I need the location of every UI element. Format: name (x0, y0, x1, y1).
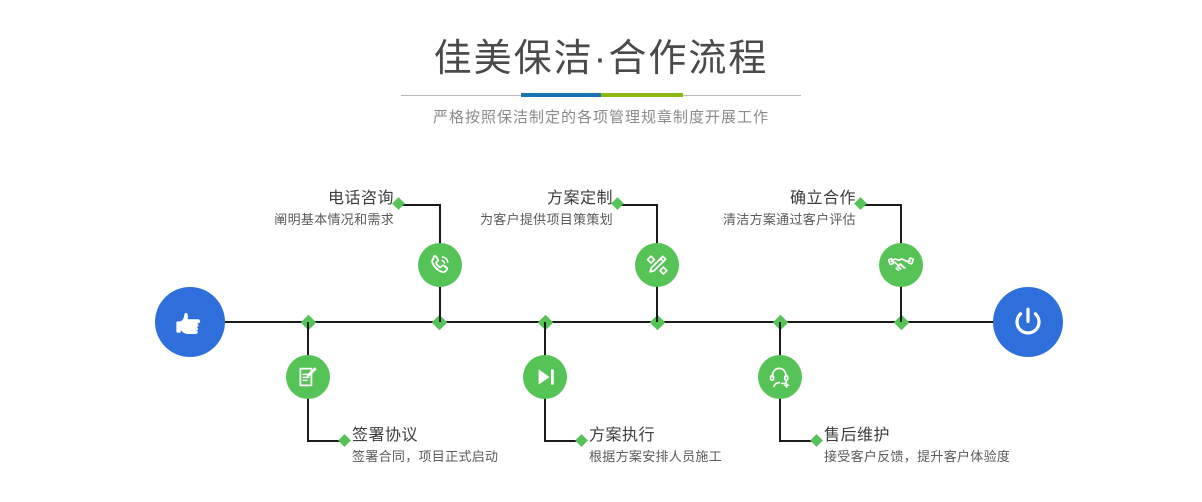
divider-segment-blue (521, 93, 601, 97)
step-title-3: 方案定制 (428, 188, 613, 210)
pointing-hand-icon (172, 304, 208, 340)
node-step-6 (758, 355, 802, 399)
step-label-3: 方案定制 为客户提供项目策策划 (428, 188, 613, 230)
page-title: 佳美保洁·合作流程 (0, 36, 1202, 82)
step-desc-2: 签署合同，项目正式启动 (352, 447, 592, 467)
connector-horizontal-step-3 (619, 204, 657, 206)
step-desc-6: 接受客户反馈，提升客户体验度 (824, 447, 1104, 467)
pencil-design-icon (644, 252, 670, 278)
node-step-2 (286, 355, 330, 399)
divider-segment-green (601, 93, 683, 97)
step-label-2: 签署协议 签署合同，项目正式启动 (352, 425, 592, 467)
step-desc-4: 根据方案安排人员施工 (589, 447, 829, 467)
power-icon (1009, 303, 1047, 341)
label-marker-step-2 (338, 434, 351, 447)
timeline-axis (155, 321, 1045, 323)
handshake-icon (888, 252, 914, 278)
step-label-4: 方案执行 根据方案安排人员施工 (589, 425, 829, 467)
play-execute-icon (532, 364, 558, 390)
step-desc-3: 为客户提供项目策策划 (428, 210, 613, 230)
process-flow-infographic: 佳美保洁·合作流程 严格按照保洁制定的各项管理规章制度开展工作 (0, 0, 1202, 502)
connector-horizontal-step-5 (862, 204, 901, 206)
node-step-1 (418, 243, 462, 287)
step-label-5: 确立合作 清洁方案通过客户评估 (672, 188, 856, 230)
label-marker-step-3 (611, 197, 624, 210)
node-step-5 (879, 243, 923, 287)
customer-service-icon (767, 364, 793, 390)
step-title-4: 方案执行 (589, 425, 829, 447)
step-desc-1: 阐明基本情况和需求 (209, 210, 394, 230)
node-step-3 (635, 243, 679, 287)
step-label-1: 电话咨询 阐明基本情况和需求 (209, 188, 394, 230)
label-marker-step-1 (392, 197, 405, 210)
page-subtitle: 严格按照保洁制定的各项管理规章制度开展工作 (0, 106, 1202, 130)
phone-call-icon (427, 252, 453, 278)
timeline-end-node (993, 287, 1063, 357)
label-marker-step-5 (854, 197, 867, 210)
step-title-2: 签署协议 (352, 425, 592, 447)
document-edit-icon (295, 364, 321, 390)
step-title-6: 售后维护 (824, 425, 1104, 447)
step-title-5: 确立合作 (672, 188, 856, 210)
node-step-4 (523, 355, 567, 399)
step-title-1: 电话咨询 (209, 188, 394, 210)
step-label-6: 售后维护 接受客户反馈，提升客户体验度 (824, 425, 1104, 467)
title-divider (401, 93, 801, 97)
timeline-start-node (155, 287, 225, 357)
step-desc-5: 清洁方案通过客户评估 (672, 210, 856, 230)
